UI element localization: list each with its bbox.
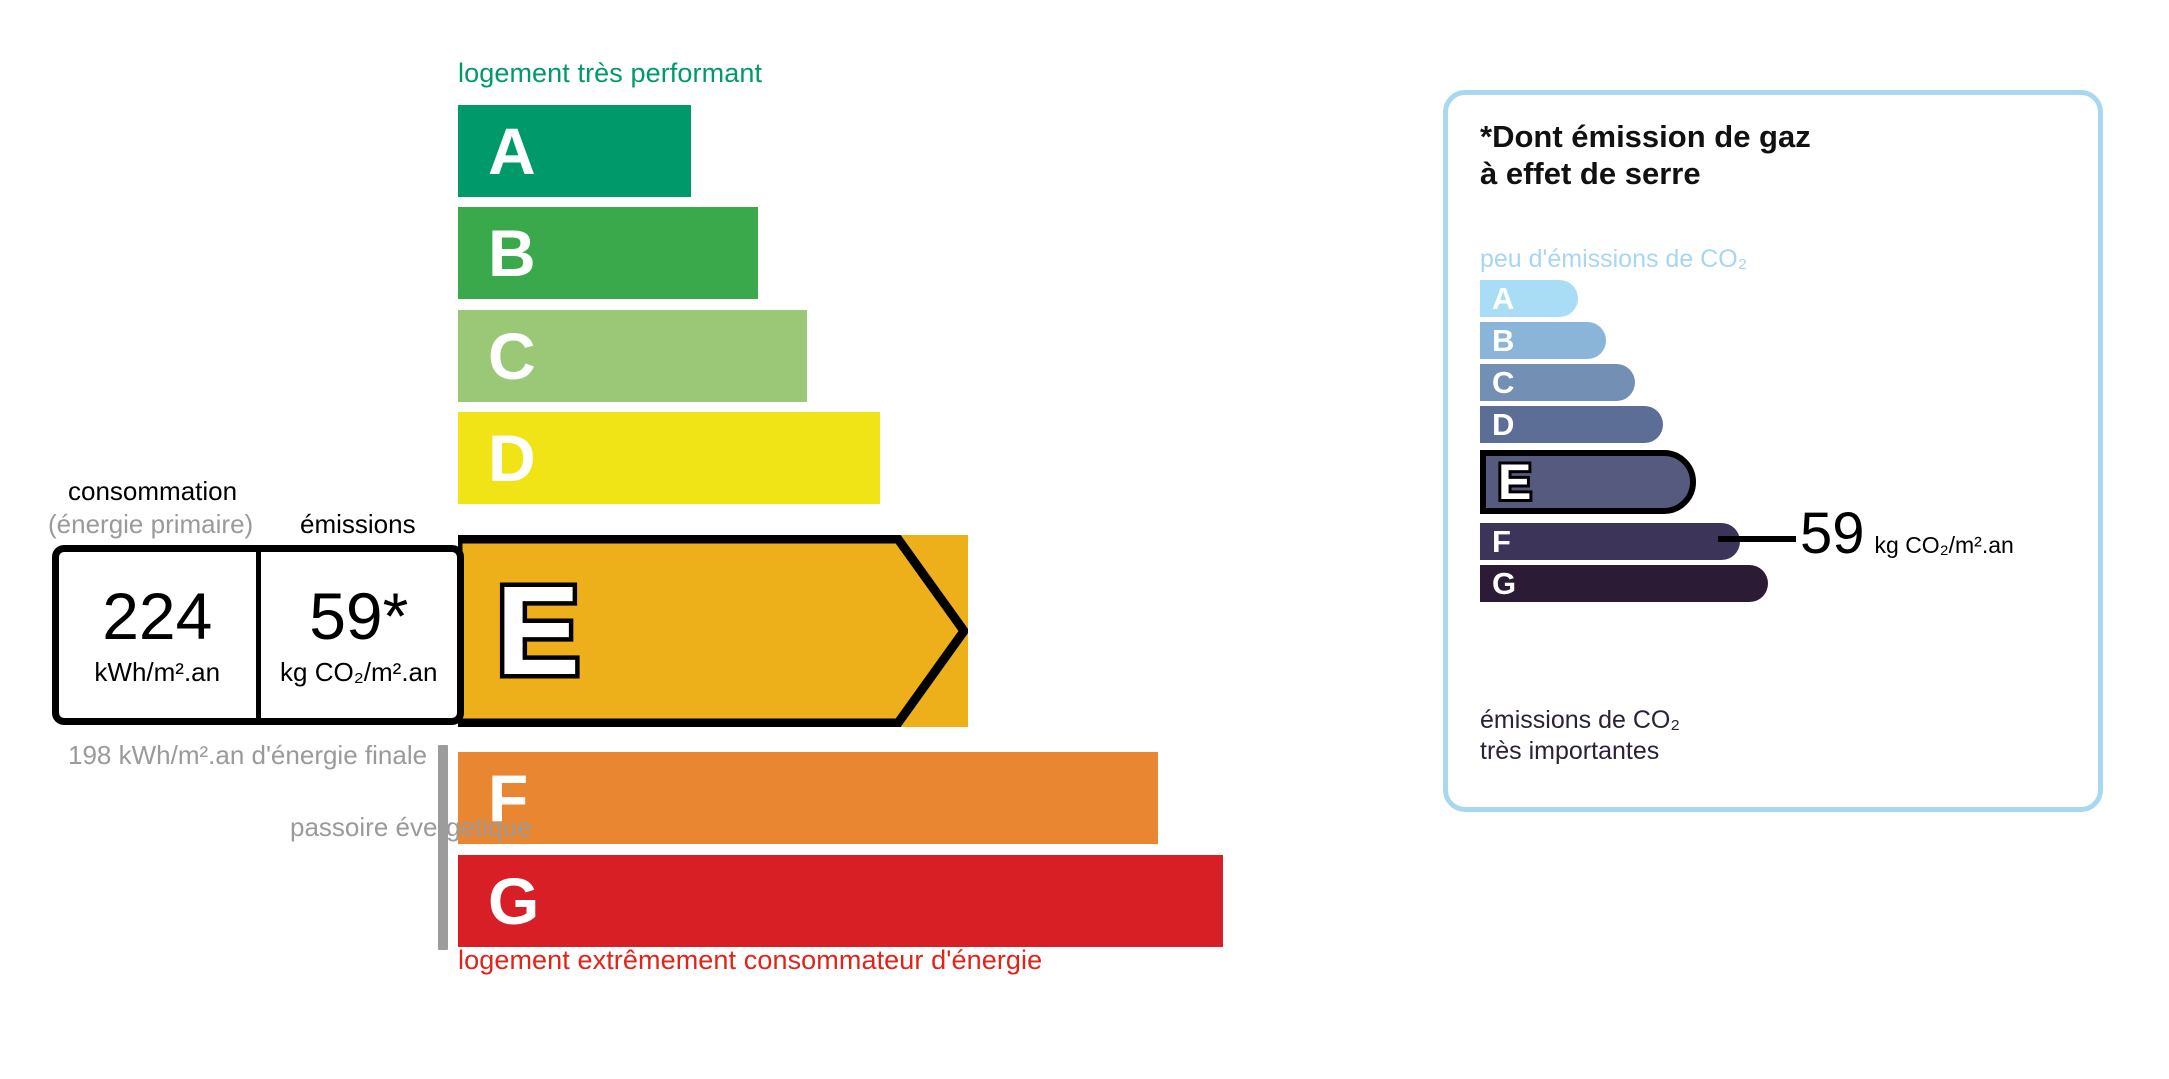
energy-row-e-selected[interactable]: E [458, 535, 968, 727]
energy-row-c[interactable]: C [458, 310, 807, 402]
energy-row-b[interactable]: B [458, 207, 758, 299]
energy-arrow-a: A [458, 105, 691, 197]
consumption-unit: kWh/m².an [94, 657, 220, 688]
energy-letter-g: G [488, 868, 539, 934]
energy-arrow-b-tip [711, 207, 758, 299]
energy-letter-f: F [488, 765, 528, 831]
energy-arrow-b: B [458, 207, 758, 299]
energy-arrow-g: G [458, 855, 1223, 947]
co2-row-a[interactable]: A [1480, 280, 1578, 317]
energy-row-g[interactable]: G [458, 855, 1223, 947]
co2-bar-f [1480, 523, 1740, 560]
energy-arrow-g-tip [1176, 855, 1223, 947]
emission-cell: 59* kg CO₂/m².an [261, 552, 458, 718]
energy-arrow-e: E [458, 535, 968, 727]
energy-arrow-f: F [458, 752, 1158, 844]
co2-row-c[interactable]: C [1480, 364, 1635, 401]
co2-caption-bottom: émissions de CO₂ très importantes [1480, 705, 1680, 766]
scale-caption-bottom: logement extrêmement consommateur d'éner… [458, 945, 1042, 976]
energy-letter-d: D [488, 425, 536, 491]
co2-row-e-selected[interactable]: E [1480, 450, 1696, 514]
energy-arrow-e-tip [893, 535, 968, 727]
label-energie-finale: 198 kWh/m².an d'énergie finale [68, 740, 427, 772]
energy-row-a[interactable]: A [458, 105, 691, 197]
label-emissions: émissions [300, 509, 416, 540]
consumption-cell: 224 kWh/m².an [59, 552, 261, 718]
co2-callout-value: 59 [1800, 505, 1865, 563]
co2-letter-a: A [1492, 283, 1514, 314]
energy-row-f[interactable]: F [458, 752, 1158, 844]
energy-letter-a: A [488, 118, 536, 184]
co2-letter-e: E [1498, 457, 1531, 507]
co2-letter-d: D [1492, 409, 1514, 440]
emission-unit: kg CO₂/m².an [280, 657, 437, 688]
co2-letter-f: F [1492, 526, 1511, 557]
energy-letter-c: C [488, 323, 536, 389]
co2-caption-top: peu d'émissions de CO₂ [1480, 245, 1747, 274]
grade-value-box: 224 kWh/m².an 59* kg CO₂/m².an [52, 545, 464, 725]
co2-emissions-panel: *Dont émission de gaz à effet de serre p… [1443, 90, 2103, 812]
energy-row-d[interactable]: D [458, 412, 880, 504]
energy-letter-e: E [496, 568, 580, 694]
energy-arrow-f-tip [1111, 752, 1158, 844]
emission-value: 59* [309, 583, 408, 649]
energy-arrow-d-tip [833, 412, 880, 504]
energy-arrow-a-tip [644, 105, 691, 197]
co2-callout-connector [1718, 536, 1796, 542]
co2-panel-title: *Dont émission de gaz à effet de serre [1480, 119, 1811, 192]
co2-row-f[interactable]: F [1480, 523, 1740, 560]
co2-letter-g: G [1492, 568, 1516, 599]
co2-callout-unit: kg CO₂/m².an [1875, 532, 2014, 559]
energy-arrow-c-tip [760, 310, 807, 402]
scale-caption-top: logement très performant [458, 58, 762, 89]
energy-arrow-a-body [458, 105, 645, 197]
co2-letter-b: B [1492, 325, 1514, 356]
consumption-value: 224 [102, 583, 212, 649]
energy-arrow-f-body [458, 752, 1112, 844]
co2-callout-readout: 59 kg CO₂/m².an [1800, 505, 2014, 563]
co2-row-d[interactable]: D [1480, 406, 1663, 443]
label-energie-primaire: (énergie primaire) [48, 509, 253, 540]
energy-arrow-d: D [458, 412, 880, 504]
energy-arrow-c: C [458, 310, 807, 402]
energy-performance-scale: logement très performant A B C D [0, 0, 1400, 1079]
energy-letter-b: B [488, 220, 536, 286]
label-consommation: consommation [68, 476, 237, 507]
co2-row-g[interactable]: G [1480, 565, 1768, 602]
co2-row-b[interactable]: B [1480, 322, 1606, 359]
energy-arrow-g-body [458, 855, 1177, 947]
passoire-divider [438, 745, 448, 950]
co2-bar-g [1480, 565, 1768, 602]
co2-letter-c: C [1492, 367, 1514, 398]
